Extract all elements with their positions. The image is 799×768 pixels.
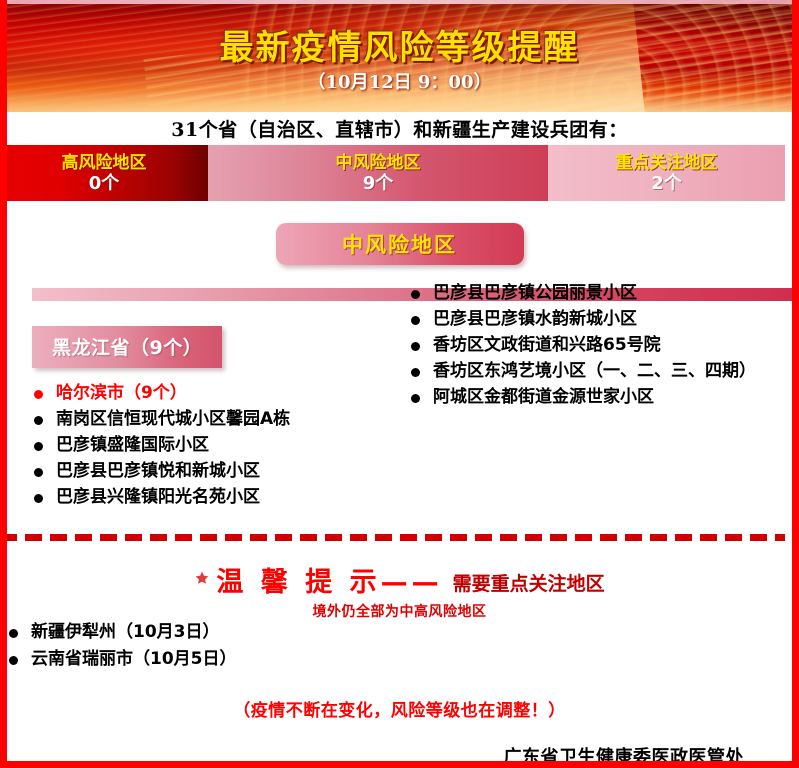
dashed-divider — [0, 534, 785, 541]
list-item[interactable]: 巴彦镇盛隆国际小区 — [32, 434, 407, 456]
medium-risk-left-list: 哈尔滨市（9个） 南岗区信恒现代城小区馨园A栋 巴彦镇盛隆国际小区 巴彦县巴彦镇… — [32, 382, 407, 508]
footer-signature: 广东省卫生健康委医政医管处 — [7, 743, 792, 768]
bullet-icon — [411, 368, 420, 377]
stat-card-high-risk[interactable]: 高风险地区 0个 — [0, 145, 208, 201]
bullet-icon — [34, 390, 43, 399]
tips-section: 温 馨 提 示—— 需要重点关注地区 境外仍全部为中高风险地区 — [7, 560, 792, 621]
page-subtitle-timestamp: （10月12日 9：00） — [0, 68, 799, 94]
bullet-icon — [411, 342, 420, 351]
stat-card-focus-area[interactable]: 重点关注地区 2个 — [548, 145, 785, 201]
bullet-icon — [34, 442, 43, 451]
list-item-label: 云南省瑞丽市（10月5日） — [31, 649, 237, 669]
list-item[interactable]: 哈尔滨市（9个） — [32, 382, 407, 404]
bullet-icon — [9, 656, 18, 665]
list-item[interactable]: 香坊区文政街道和兴路65号院 — [409, 334, 792, 356]
stat-card-high-risk-label: 高风险地区 — [62, 154, 147, 173]
stat-card-focus-area-value: 2个 — [651, 173, 682, 195]
list-item-label: 巴彦县巴彦镇水韵新城小区 — [433, 309, 637, 329]
list-item-label: 南岗区信恒现代城小区馨园A栋 — [56, 409, 290, 429]
bullet-icon — [9, 629, 18, 638]
list-item-label: 香坊区文政街道和兴路65号院 — [433, 335, 661, 355]
province-badge-label: 黑龙江省（9个） — [52, 337, 202, 359]
list-item-label: 巴彦县巴彦镇悦和新城小区 — [56, 461, 260, 481]
focus-area-list: 新疆伊犁州（10月3日） 云南省瑞丽市（10月5日） — [7, 621, 792, 669]
bullet-icon — [411, 394, 420, 403]
footer-note: （疫情不断在变化，风险等级也在调整！） — [7, 696, 792, 721]
province-badge[interactable]: 黑龙江省（9个） — [32, 326, 222, 368]
bullet-icon — [34, 416, 43, 425]
summary-stat-cards: 高风险地区 0个 中风险地区 9个 重点关注地区 2个 — [0, 145, 785, 201]
stat-card-medium-risk-value: 9个 — [363, 173, 394, 195]
stat-card-medium-risk-label: 中风险地区 — [336, 154, 421, 173]
list-item[interactable]: 巴彦县巴彦镇公园丽景小区 — [409, 282, 792, 304]
risk-level-poster: 最新疫情风险等级提醒 （10月12日 9：00） 31个省（自治区、直辖市）和新… — [0, 0, 799, 768]
list-item[interactable]: 巴彦县巴彦镇水韵新城小区 — [409, 308, 792, 330]
stat-card-high-risk-value: 0个 — [89, 173, 120, 195]
list-item[interactable]: 巴彦县兴隆镇阳光名苑小区 — [32, 486, 407, 508]
list-item[interactable]: 巴彦县巴彦镇悦和新城小区 — [32, 460, 407, 482]
bullet-icon — [34, 468, 43, 477]
list-item[interactable]: 南岗区信恒现代城小区馨园A栋 — [32, 408, 407, 430]
list-item-label: 哈尔滨市（9个） — [56, 383, 187, 403]
list-item-label: 巴彦县兴隆镇阳光名苑小区 — [56, 487, 260, 507]
section-pill-wrap: 中风险地区 — [7, 223, 792, 265]
medium-risk-columns: 哈尔滨市（9个） 南岗区信恒现代城小区馨园A栋 巴彦镇盛隆国际小区 巴彦县巴彦镇… — [7, 382, 792, 512]
banner-top-edge — [0, 0, 799, 4]
bullet-icon — [34, 494, 43, 503]
list-item[interactable]: 香坊区东鸿艺境小区（一、二、三、四期） — [409, 360, 792, 382]
medium-risk-left-column: 哈尔滨市（9个） 南岗区信恒现代城小区馨园A栋 巴彦镇盛隆国际小区 巴彦县巴彦镇… — [7, 382, 407, 512]
list-item-label: 巴彦县巴彦镇公园丽景小区 — [433, 283, 637, 303]
tips-inline-label: 需要重点关注地区 — [453, 569, 605, 596]
summary-heading: 31个省（自治区、直辖市）和新疆生产建设兵团有： — [171, 115, 627, 142]
medium-risk-right-list: 巴彦县巴彦镇公园丽景小区 巴彦县巴彦镇水韵新城小区 香坊区文政街道和兴路65号院… — [409, 282, 792, 408]
section-pill-medium-risk[interactable]: 中风险地区 — [276, 223, 524, 265]
tips-title: 温 馨 提 示—— — [216, 560, 442, 599]
list-item-label: 阿城区金都街道金源世家小区 — [433, 387, 654, 407]
medium-risk-right-column: 巴彦县巴彦镇公园丽景小区 巴彦县巴彦镇水韵新城小区 香坊区文政街道和兴路65号院… — [407, 282, 792, 512]
list-item[interactable]: 阿城区金都街道金源世家小区 — [409, 386, 792, 408]
list-item-label: 新疆伊犁州（10月3日） — [31, 622, 220, 642]
tips-heading-line: 温 馨 提 示—— 需要重点关注地区 — [7, 560, 792, 599]
bullet-icon — [411, 290, 420, 299]
bullet-icon — [411, 316, 420, 325]
list-item-label: 巴彦镇盛隆国际小区 — [56, 435, 209, 455]
list-item-label: 香坊区东鸿艺境小区（一、二、三、四期） — [433, 361, 756, 381]
page-title: 最新疫情风险等级提醒 — [0, 20, 799, 69]
header-banner: 最新疫情风险等级提醒 （10月12日 9：00） — [0, 0, 799, 112]
tips-note: 境外仍全部为中高风险地区 — [7, 601, 792, 621]
star-icon — [194, 570, 210, 590]
summary-heading-row: 31个省（自治区、直辖市）和新疆生产建设兵团有： — [0, 112, 785, 145]
list-item[interactable]: 新疆伊犁州（10月3日） — [7, 621, 792, 643]
stat-card-focus-area-label: 重点关注地区 — [616, 154, 718, 173]
section-pill-label: 中风险地区 — [342, 229, 457, 259]
list-item[interactable]: 云南省瑞丽市（10月5日） — [7, 648, 792, 670]
stat-card-medium-risk[interactable]: 中风险地区 9个 — [208, 145, 548, 201]
